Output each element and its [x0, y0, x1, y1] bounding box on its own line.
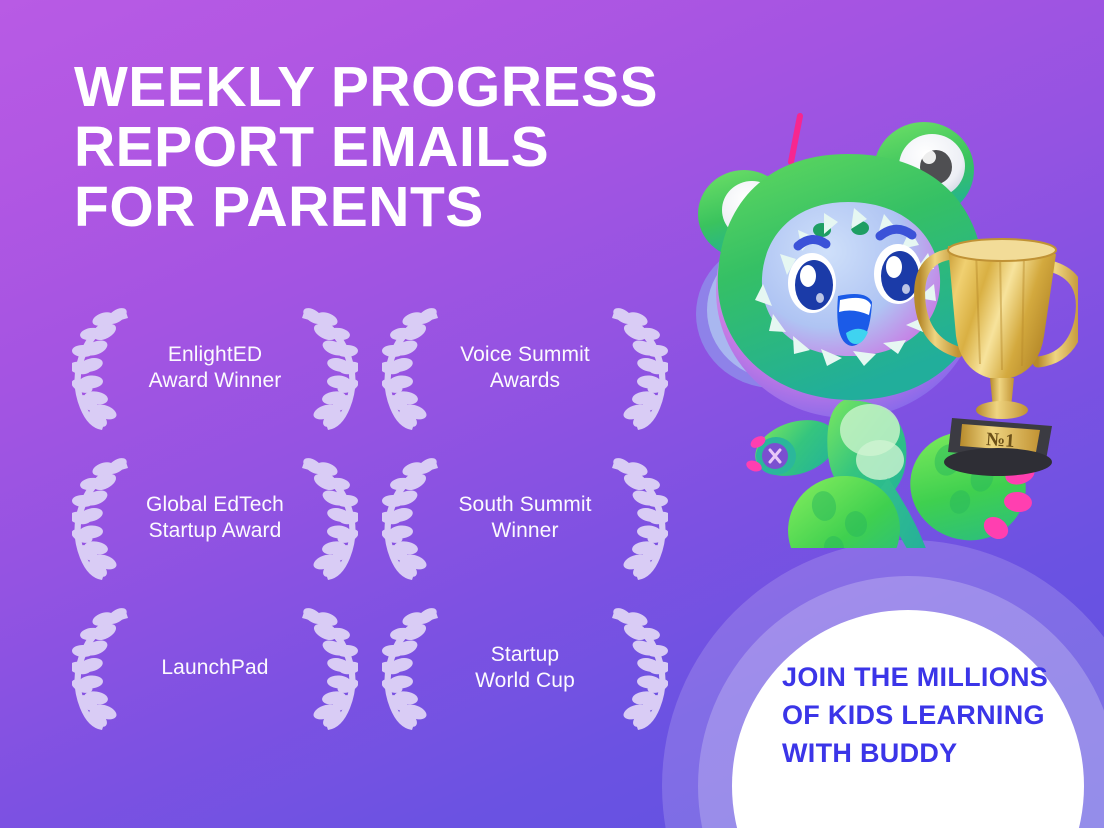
cta-line-3: WITH BUDDY — [782, 734, 1072, 772]
awards-row: Global EdTech Startup Award South Summit… — [60, 456, 680, 606]
trophy-plaque-text: №1 — [985, 429, 1015, 452]
award-badge-global-edtech: Global EdTech Startup Award — [60, 456, 370, 580]
award-label-line: EnlightED — [168, 343, 262, 366]
cta-line-1: JOIN THE MILLIONS — [782, 658, 1072, 696]
trophy-icon: №1 — [920, 239, 1078, 476]
cta-text: JOIN THE MILLIONS OF KIDS LEARNING WITH … — [782, 658, 1072, 772]
award-label-line: World Cup — [475, 669, 575, 692]
award-badge-label: LaunchPad — [120, 655, 310, 681]
award-badge-label: EnlightED Award Winner — [120, 342, 310, 394]
headline-line-1: WEEKLY PROGRESS — [74, 57, 714, 117]
award-badge-label: Startup World Cup — [430, 642, 620, 694]
page-title: WEEKLY PROGRESS REPORT EMAILS FOR PARENT… — [74, 57, 714, 237]
award-label-line: South Summit — [458, 493, 591, 516]
award-label-line: Winner — [491, 519, 558, 542]
award-badge-launchpad: LaunchPad — [60, 606, 370, 730]
award-badge-startup-world-cup: Startup World Cup — [370, 606, 680, 730]
award-badge-south-summit: South Summit Winner — [370, 456, 680, 580]
award-badge-enlighted: EnlightED Award Winner — [60, 306, 370, 430]
awards-row: EnlightED Award Winner Voice Summit Awar… — [60, 306, 680, 456]
award-badge-label: South Summit Winner — [430, 492, 620, 544]
award-label-line: Startup Award — [149, 519, 282, 542]
award-label-line: Startup — [491, 643, 559, 666]
headline-line-3: FOR PARENTS — [74, 177, 714, 237]
poster-canvas: №1 WEEKLY PROGRESS REPORT EMAILS FOR PAR… — [0, 0, 1104, 828]
award-label-line: Award Winner — [149, 369, 282, 392]
award-badge-voice-summit: Voice Summit Awards — [370, 306, 680, 430]
cta-line-2: OF KIDS LEARNING — [782, 696, 1072, 734]
award-label-line: LaunchPad — [161, 656, 268, 679]
award-label-line: Voice Summit — [460, 343, 590, 366]
headline-line-2: REPORT EMAILS — [74, 117, 714, 177]
award-badge-label: Global EdTech Startup Award — [120, 492, 310, 544]
award-label-line: Awards — [490, 369, 560, 392]
award-badge-label: Voice Summit Awards — [430, 342, 620, 394]
awards-row: LaunchPad Startup World Cup — [60, 606, 680, 756]
award-label-line: Global EdTech — [146, 493, 284, 516]
awards-list: EnlightED Award Winner Voice Summit Awar… — [60, 306, 680, 756]
